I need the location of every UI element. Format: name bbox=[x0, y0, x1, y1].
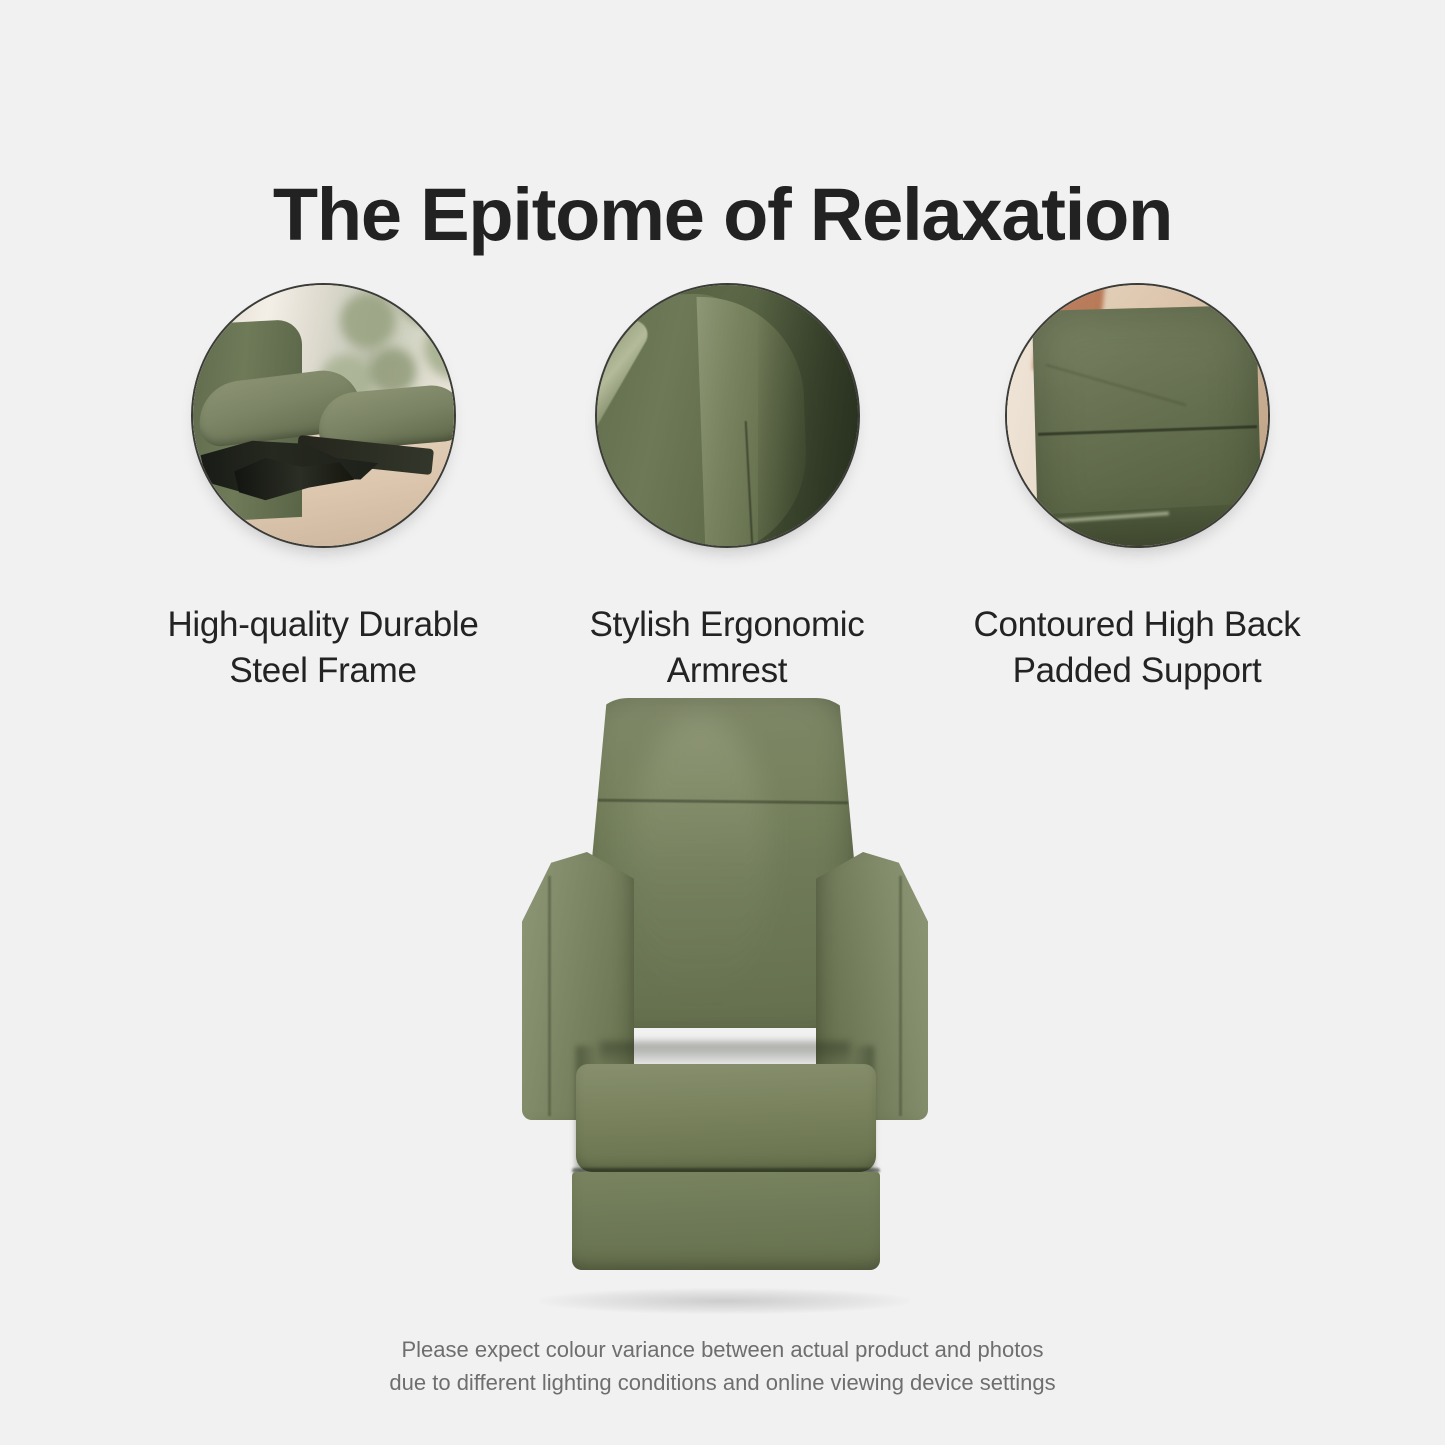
caption-line-1: Contoured High Back bbox=[972, 602, 1302, 648]
feature-caption-steel-frame: High-quality Durable Steel Frame bbox=[158, 602, 488, 694]
caption-line-2: Armrest bbox=[562, 648, 892, 694]
feature-item-steel-frame: High-quality Durable Steel Frame bbox=[158, 283, 488, 694]
feature-caption-high-back: Contoured High Back Padded Support bbox=[972, 602, 1302, 694]
feature-item-high-back: Contoured High Back Padded Support bbox=[972, 283, 1302, 694]
steel-frame-photo bbox=[193, 285, 454, 546]
caption-line-2: Padded Support bbox=[972, 648, 1302, 694]
product-image-recliner bbox=[480, 690, 970, 1320]
chair-seat-cushion bbox=[576, 1064, 876, 1172]
caption-line-1: High-quality Durable bbox=[158, 602, 488, 648]
armrest-shadow bbox=[758, 285, 859, 546]
armrest-photo bbox=[597, 285, 858, 546]
caption-line-1: Stylish Ergonomic bbox=[562, 602, 892, 648]
feature-photo-armrest bbox=[595, 283, 860, 548]
high-back-photo bbox=[1007, 285, 1268, 546]
feature-photo-high-back bbox=[1005, 283, 1270, 548]
feature-caption-armrest: Stylish Ergonomic Armrest bbox=[562, 602, 892, 694]
disclaimer-line-1: Please expect colour variance between ac… bbox=[0, 1334, 1445, 1367]
backrest-sheen bbox=[630, 714, 770, 1004]
floor-shadow bbox=[540, 1288, 910, 1314]
disclaimer-line-2: due to different lighting conditions and… bbox=[0, 1367, 1445, 1400]
caption-line-2: Steel Frame bbox=[158, 648, 488, 694]
feature-list: High-quality Durable Steel Frame Stylish… bbox=[0, 283, 1445, 693]
armrest-left-piping bbox=[548, 876, 551, 1116]
feature-item-armrest: Stylish Ergonomic Armrest bbox=[562, 283, 892, 694]
armrest-right-piping bbox=[899, 876, 902, 1116]
feature-photo-steel-frame bbox=[191, 283, 456, 548]
infographic-page: The Epitome of Relaxation High-quality bbox=[0, 0, 1445, 1445]
page-title: The Epitome of Relaxation bbox=[0, 178, 1445, 252]
colour-variance-disclaimer: Please expect colour variance between ac… bbox=[0, 1334, 1445, 1399]
chair-base-panel bbox=[572, 1172, 880, 1270]
